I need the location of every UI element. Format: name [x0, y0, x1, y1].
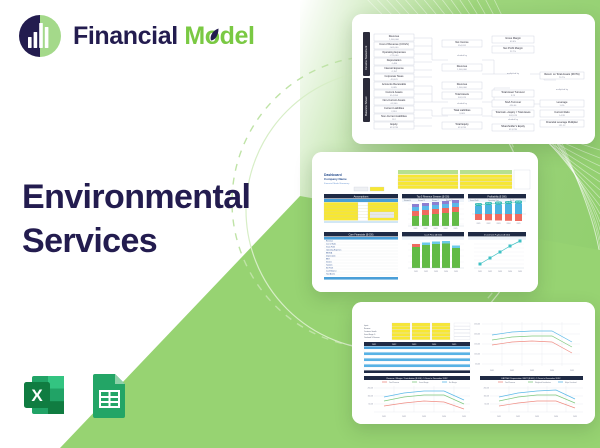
svg-text:Current Assets: Current Assets: [385, 90, 403, 94]
svg-text:20X3: 20X3: [422, 416, 426, 418]
svg-text:divided by: divided by: [457, 55, 468, 57]
svg-text:20X1: 20X1: [497, 416, 501, 418]
svg-text:35.0%: 35.0%: [486, 203, 491, 205]
svg-text:20X2: 20X2: [392, 344, 396, 346]
svg-text:22.7%: 22.7%: [510, 51, 516, 53]
svg-text:Overhead % Revenue: Overhead % Revenue: [364, 337, 380, 339]
dupont-analysis-diagram: Income Statement Balance Sheet: [352, 14, 595, 144]
svg-text:Revenue: Revenue: [326, 240, 333, 242]
svg-text:Investment Payback ($ 000): Investment Payback ($ 000): [484, 233, 510, 236]
svg-text:-271,040: -271,040: [390, 55, 399, 57]
svg-text:EBITDA: EBITDA: [326, 251, 333, 254]
svg-text:3,063: 3,063: [459, 113, 465, 115]
svg-text:20X4: 20X4: [432, 344, 436, 346]
microsoft-excel-icon[interactable]: X: [20, 370, 70, 420]
svg-text:Operating Expenses: Operating Expenses: [326, 248, 341, 251]
svg-text:200,000: 200,000: [474, 334, 480, 336]
svg-text:Cash Balance: Cash Balance: [326, 270, 337, 272]
svg-text:20X1: 20X1: [414, 271, 418, 273]
svg-text:Taxation: Taxation: [326, 263, 332, 266]
svg-text:-1,480: -1,480: [391, 63, 398, 65]
svg-text:Income Statement: Income Statement: [364, 45, 368, 70]
svg-text:20X1: 20X1: [382, 416, 386, 418]
svg-text:20X4: 20X4: [550, 370, 554, 372]
svg-text:502,076: 502,076: [509, 115, 518, 117]
svg-text:divided by: divided by: [508, 119, 519, 121]
svg-text:Cost of Revenue (COGS): Cost of Revenue (COGS): [379, 42, 409, 46]
svg-text:20X5: 20X5: [570, 370, 574, 372]
svg-text:20X3: 20X3: [498, 271, 502, 273]
svg-text:34.1%: 34.1%: [476, 204, 481, 206]
svg-text:Revenue / Margin / Contributio: Revenue / Margin / Contribution ($ 000) …: [386, 377, 448, 380]
svg-text:150,000: 150,000: [484, 396, 490, 398]
page-title: Environmental Services: [22, 176, 252, 263]
svg-text:1,540,000: 1,540,000: [457, 87, 468, 89]
svg-text:SGA Turnover: SGA Turnover: [505, 100, 521, 104]
svg-text:20X4: 20X4: [442, 416, 446, 418]
svg-text:14.39: 14.39: [559, 115, 565, 117]
svg-text:35.8%: 35.8%: [496, 203, 501, 205]
svg-text:Cash Flow ($ 000): Cash Flow ($ 000): [424, 234, 442, 236]
svg-text:Leverage: Leverage: [557, 100, 568, 104]
svg-text:Total Liabilities: Total Liabilities: [454, 108, 472, 112]
svg-text:20X5: 20X5: [573, 416, 577, 418]
svg-text:Company Name: Company Name: [324, 177, 347, 181]
svg-text:424.04: 424.04: [510, 105, 517, 107]
svg-text:20X1: 20X1: [477, 223, 481, 225]
svg-text:20X2: 20X2: [488, 271, 492, 273]
svg-text:-93,070: -93,070: [390, 79, 398, 81]
financial-dashboard-card[interactable]: Dashboard Company Name Financial Model S…: [312, 152, 538, 292]
svg-text:413,235: 413,235: [390, 127, 399, 129]
svg-text:250,000: 250,000: [368, 388, 374, 390]
svg-text:100,000: 100,000: [474, 354, 480, 356]
svg-text:Current Liabilities: Current Liabilities: [384, 106, 405, 110]
svg-text:413,235: 413,235: [509, 129, 518, 131]
svg-text:20X3: 20X3: [434, 228, 438, 230]
svg-text:Shareholder's Equity: Shareholder's Equity: [501, 124, 526, 128]
svg-text:Net Profit Margin: Net Profit Margin: [503, 46, 523, 50]
svg-text:Interest: Interest: [326, 260, 332, 263]
svg-text:Depreciation: Depreciation: [387, 58, 402, 62]
svg-text:20X4: 20X4: [444, 228, 448, 230]
svg-text:20X4: 20X4: [554, 416, 558, 418]
brand-wordmark: Financial Model: [73, 22, 255, 51]
svg-text:20X3: 20X3: [412, 344, 416, 346]
brand-name-part2-del: del: [220, 22, 255, 50]
svg-text:EBITDA / Depreciation / EBIT (: EBITDA / Depreciation / EBIT ($ 000) - 5…: [502, 377, 562, 380]
svg-text:20X1: 20X1: [490, 370, 494, 372]
svg-text:20X2: 20X2: [402, 416, 406, 418]
svg-text:20X4: 20X4: [508, 271, 512, 273]
svg-text:20X1: 20X1: [372, 344, 376, 346]
svg-text:Core Financials ($ 000): Core Financials ($ 000): [349, 233, 374, 236]
svg-text:63.6%: 63.6%: [510, 41, 516, 43]
svg-text:50,000: 50,000: [475, 364, 480, 366]
svg-text:20X5: 20X5: [454, 271, 458, 273]
svg-text:Non-Current Liabilities: Non-Current Liabilities: [381, 114, 407, 118]
forecast-charts-screenshot: InputsRevenue Customer GrowthGross Margi…: [352, 302, 595, 424]
svg-text:37.0%: 37.0%: [516, 202, 521, 204]
svg-text:Financial Model Summary: Financial Model Summary: [324, 182, 350, 185]
svg-text:Operating Expenses: Operating Expenses: [382, 50, 406, 54]
financial-model-circle-chart-logo-icon: [18, 14, 62, 58]
brand-name-part2-m: M: [184, 22, 204, 50]
svg-text:Total Liab + Equity = Total As: Total Liab + Equity = Total Assets: [495, 111, 531, 114]
brand-name-part1: Financial: [73, 22, 178, 50]
svg-text:20X4: 20X4: [507, 223, 511, 225]
svg-text:20X3: 20X3: [535, 416, 539, 418]
brand-leaf-o: o: [205, 22, 220, 51]
svg-text:Financial Leverage Multiplier: Financial Leverage Multiplier: [546, 121, 578, 124]
svg-text:Total Assets: Total Assets: [326, 272, 335, 275]
svg-text:Current Ratio: Current Ratio: [554, 110, 570, 114]
svg-text:Revenue: Revenue: [457, 64, 468, 68]
svg-text:354,031: 354,031: [458, 45, 467, 47]
svg-text:20X5: 20X5: [517, 223, 521, 225]
svg-text:X: X: [31, 386, 43, 405]
leaf-icon: [209, 28, 220, 41]
svg-text:20X2: 20X2: [510, 370, 514, 372]
svg-text:20X5: 20X5: [462, 416, 466, 418]
svg-text:73.7%: 73.7%: [559, 77, 565, 79]
svg-text:150,000: 150,000: [474, 344, 480, 346]
svg-text:Corporate Taxes: Corporate Taxes: [385, 74, 405, 78]
svg-text:Top 5 Revenue Streams ($ 000): Top 5 Revenue Streams ($ 000): [417, 195, 450, 198]
file-format-icons: X: [20, 370, 134, 420]
svg-text:250,000: 250,000: [484, 388, 490, 390]
svg-text:Gross Margin: Gross Margin: [419, 382, 429, 384]
svg-text:20X3: 20X3: [530, 370, 534, 372]
svg-text:20X2: 20X2: [424, 228, 428, 230]
google-sheets-icon[interactable]: [84, 370, 134, 420]
svg-text:250,000: 250,000: [474, 324, 480, 326]
svg-text:-2,157: -2,157: [391, 71, 398, 73]
svg-text:20X4: 20X4: [444, 271, 448, 273]
svg-text:multiplied by: multiplied by: [556, 88, 569, 91]
svg-text:413,235: 413,235: [458, 127, 467, 129]
svg-text:50,000: 50,000: [484, 404, 489, 406]
svg-text:1,540,000: 1,540,000: [457, 69, 468, 71]
svg-text:Profitability ($ 000): Profitability ($ 000): [487, 195, 506, 198]
svg-text:8,085: 8,085: [391, 87, 397, 89]
svg-text:Net Profit: Net Profit: [326, 266, 334, 269]
forecast-charts-card[interactable]: InputsRevenue Customer GrowthGross Margi…: [352, 302, 595, 424]
svg-text:Revenue: Revenue: [389, 34, 400, 38]
svg-text:20X1: 20X1: [478, 271, 482, 273]
svg-text:Balance Sheet: Balance Sheet: [364, 96, 368, 116]
svg-text:Gross Margin: Gross Margin: [505, 36, 521, 40]
svg-text:Return on Total Assets (ROTA): Return on Total Assets (ROTA): [544, 72, 579, 76]
svg-text:Non-Current Assets: Non-Current Assets: [383, 98, 406, 102]
svg-text:502,076: 502,076: [458, 97, 467, 99]
svg-text:Total Asset Turnover: Total Asset Turnover: [501, 90, 525, 94]
svg-text:1,540,000: 1,540,000: [389, 39, 400, 41]
svg-text:20X5: 20X5: [452, 344, 456, 346]
svg-text:multiplied by: multiplied by: [507, 72, 520, 75]
svg-text:20X3: 20X3: [434, 271, 438, 273]
svg-text:Gross Profit: Gross Profit: [326, 245, 335, 248]
svg-text:36.4%: 36.4%: [506, 202, 511, 204]
svg-text:20X1: 20X1: [414, 228, 418, 230]
svg-text:Depreciation: Depreciation: [326, 254, 336, 257]
svg-text:-561,000: -561,000: [390, 47, 399, 49]
svg-text:150,000: 150,000: [368, 396, 374, 398]
svg-text:20X3: 20X3: [497, 223, 501, 225]
svg-text:Total Assets: Total Assets: [455, 92, 470, 96]
svg-text:EBIT: EBIT: [326, 258, 330, 260]
svg-text:61,900: 61,900: [391, 103, 398, 105]
svg-text:Gross Margin %: Gross Margin %: [364, 334, 376, 336]
svg-text:121.12: 121.12: [559, 125, 566, 127]
svg-text:414,056: 414,056: [390, 95, 399, 97]
svg-text:Accounts Receivable: Accounts Receivable: [382, 82, 407, 86]
svg-text:20X2: 20X2: [487, 223, 491, 225]
svg-text:Revenue: Revenue: [364, 328, 370, 330]
promo-banner: Financial Model Environmental Services X: [0, 0, 600, 448]
svg-text:Cost of Sales: Cost of Sales: [326, 242, 336, 245]
svg-text:Interest Expense: Interest Expense: [384, 66, 404, 70]
svg-text:Net Income: Net Income: [455, 40, 469, 44]
svg-text:divided by: divided by: [457, 103, 468, 105]
svg-text:Major Overhead: Major Overhead: [565, 382, 577, 384]
svg-text:Equity: Equity: [390, 122, 398, 126]
svg-text:20X2: 20X2: [516, 416, 520, 418]
svg-text:2,951: 2,951: [391, 111, 397, 113]
svg-text:50,000: 50,000: [368, 404, 373, 406]
svg-text:20X2: 20X2: [424, 271, 428, 273]
svg-text:Assumptions: Assumptions: [354, 194, 370, 198]
svg-text:20X5: 20X5: [454, 228, 458, 230]
brand-logo: Financial Model: [18, 14, 255, 58]
svg-text:20X5: 20X5: [518, 271, 522, 273]
svg-text:1.0%: 1.0%: [560, 105, 565, 107]
dupont-analysis-diagram-card[interactable]: Income Statement Balance Sheet: [352, 14, 595, 144]
financial-dashboard-screenshot: Dashboard Company Name Financial Model S…: [312, 152, 538, 292]
svg-text:Total Equity: Total Equity: [455, 122, 469, 126]
svg-text:Revenue: Revenue: [457, 82, 468, 86]
